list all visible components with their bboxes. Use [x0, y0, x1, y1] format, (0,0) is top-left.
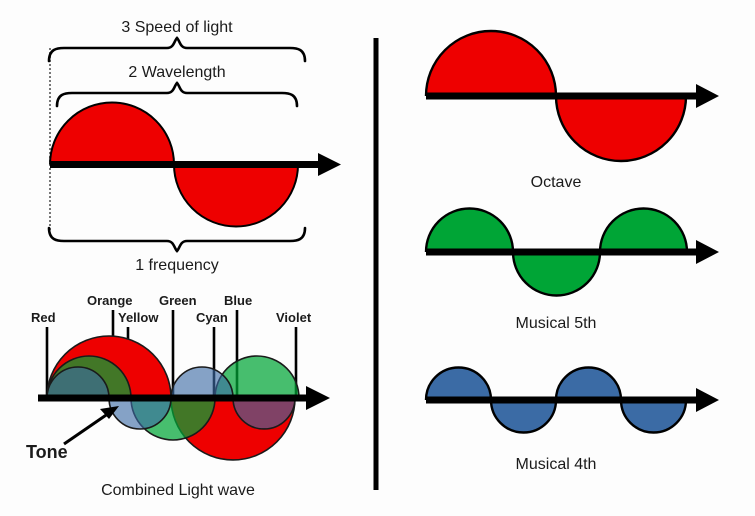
label-green: Green: [159, 293, 197, 308]
caption-musical-5th: Musical 5th: [516, 315, 597, 332]
figure-root: 3 Speed of light 2 Wavelength 1 frequenc…: [0, 0, 755, 516]
label-blue: Blue: [224, 293, 252, 308]
label-red: Red: [31, 310, 56, 325]
caption-musical-4th: Musical 4th: [516, 456, 597, 473]
caption-combined-light-wave: Combined Light wave: [101, 482, 255, 499]
label-tone: Tone: [26, 442, 68, 462]
diagram-canvas: 3 Speed of light 2 Wavelength 1 frequenc…: [0, 0, 755, 516]
label-wavelength: 2 Wavelength: [128, 64, 225, 81]
caption-octave: Octave: [531, 174, 582, 191]
label-frequency: 1 frequency: [135, 257, 219, 274]
label-violet: Violet: [276, 310, 312, 325]
label-speed-of-light: 3 Speed of light: [121, 19, 233, 36]
label-orange: Orange: [87, 293, 133, 308]
label-cyan: Cyan: [196, 310, 228, 325]
label-yellow: Yellow: [118, 310, 159, 325]
